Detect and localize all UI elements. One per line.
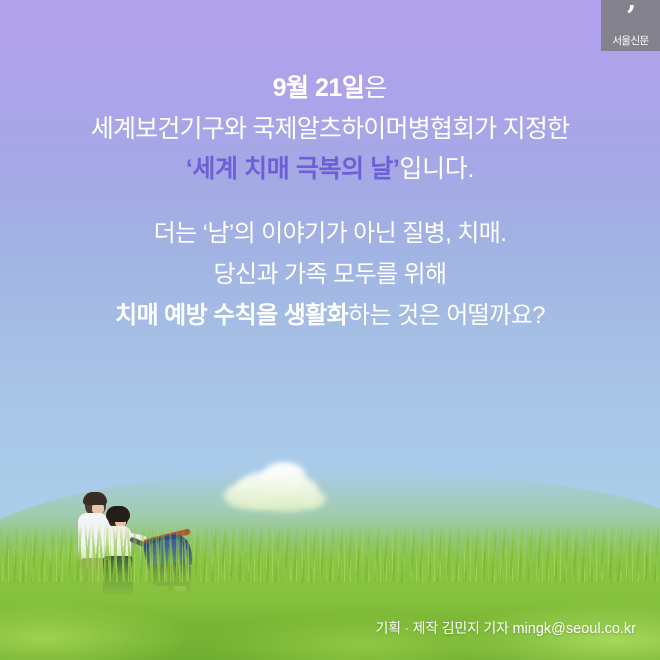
- copy-container: 9월 21일은 세계보건기구와 국제알츠하이머병협회가 지정한 ‘세계 치매 극…: [0, 0, 660, 328]
- body-block: 더는 ‘남’의 이야기가 아닌 질병, 치매. 당신과 가족 모두를 위해 치매…: [0, 222, 660, 328]
- grass-blades: [0, 524, 660, 582]
- body-line-3: 치매 예방 수칙을 생활화하는 것은 어떨까요?: [0, 304, 660, 328]
- body-line-3-tail: 하는 것은 어떨까요?: [348, 302, 545, 329]
- credit-text: 기획 · 제작 김민지 기자: [375, 620, 508, 636]
- headline-line-1: 9월 21일은: [0, 76, 660, 101]
- card-canvas: ’ 서울신문 9월 21일은 세계보건기구와 국제알츠하이머병협회가 지정한 ‘…: [0, 0, 660, 660]
- body-emphasis-phrase: 치매 예방 수칙을 생활화: [115, 302, 348, 329]
- headline-line-3: ‘세계 치매 극복의 날’입니다.: [0, 157, 660, 182]
- headline-accent-phrase: ‘세계 치매 극복의 날’: [186, 155, 400, 183]
- credit-email: mingk@seoul.co.kr: [512, 621, 636, 637]
- woman-hair: [106, 506, 130, 522]
- man-hair: [83, 492, 107, 505]
- headline-line-3-tail: 입니다.: [399, 155, 474, 183]
- headline-block: 9월 21일은 세계보건기구와 국제알츠하이머병협회가 지정한 ‘세계 치매 극…: [0, 76, 660, 182]
- headline-date-particle: 은: [364, 74, 387, 102]
- headline-line-2: 세계보건기구와 국제알츠하이머병협회가 지정한: [0, 117, 660, 142]
- body-line-2: 당신과 가족 모두를 위해: [0, 263, 660, 287]
- body-line-1: 더는 ‘남’의 이야기가 아닌 질병, 치매.: [0, 222, 660, 246]
- credit-line: 기획 · 제작 김민지 기자 mingk@seoul.co.kr: [375, 618, 636, 638]
- headline-date: 9월 21일: [273, 74, 365, 102]
